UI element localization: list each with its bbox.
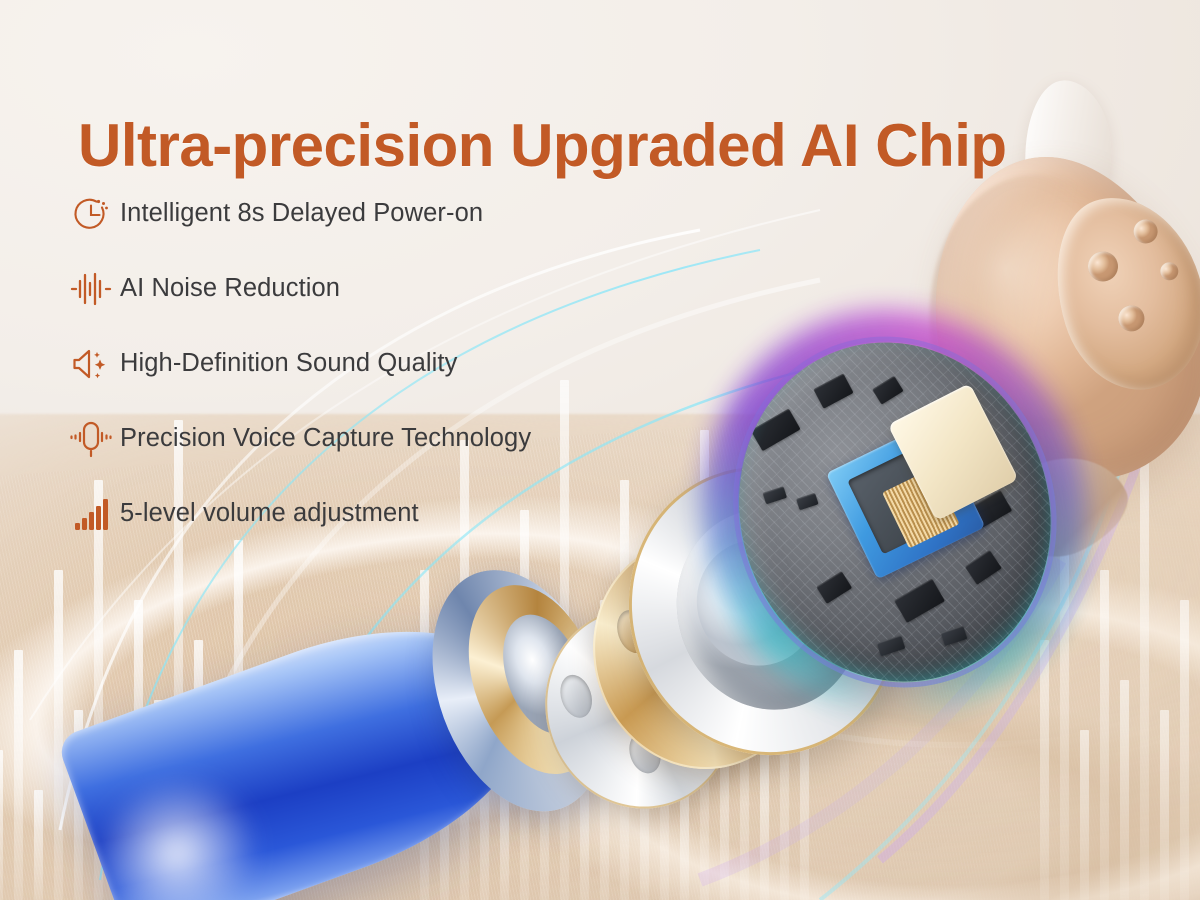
volume-bars-icon bbox=[62, 492, 120, 536]
delay-clock-icon bbox=[62, 192, 120, 236]
product-banner: Ultra-precision Upgraded AI Chip Intelli… bbox=[0, 0, 1200, 900]
feature-label: Intelligent 8s Delayed Power-on bbox=[120, 199, 483, 228]
feature-item-volume-adjustment: 5-level volume adjustment bbox=[62, 476, 702, 551]
microphone-icon bbox=[62, 417, 120, 461]
feature-item-sound-quality: High-Definition Sound Quality bbox=[62, 326, 702, 401]
feature-item-voice-capture: Precision Voice Capture Technology bbox=[62, 401, 702, 476]
feature-item-delayed-power-on: Intelligent 8s Delayed Power-on bbox=[62, 176, 702, 251]
feature-label: Precision Voice Capture Technology bbox=[120, 424, 531, 453]
feature-item-noise-reduction: AI Noise Reduction bbox=[62, 251, 702, 326]
speaker-sparkle-icon bbox=[62, 342, 120, 386]
page-title: Ultra-precision Upgraded AI Chip bbox=[78, 114, 1118, 177]
feature-list: Intelligent 8s Delayed Power-on AI Noise… bbox=[62, 176, 702, 551]
audio-waveform-icon bbox=[62, 267, 120, 311]
feature-label: 5-level volume adjustment bbox=[120, 499, 419, 528]
feature-label: High-Definition Sound Quality bbox=[120, 349, 457, 378]
feature-label: AI Noise Reduction bbox=[120, 274, 340, 303]
